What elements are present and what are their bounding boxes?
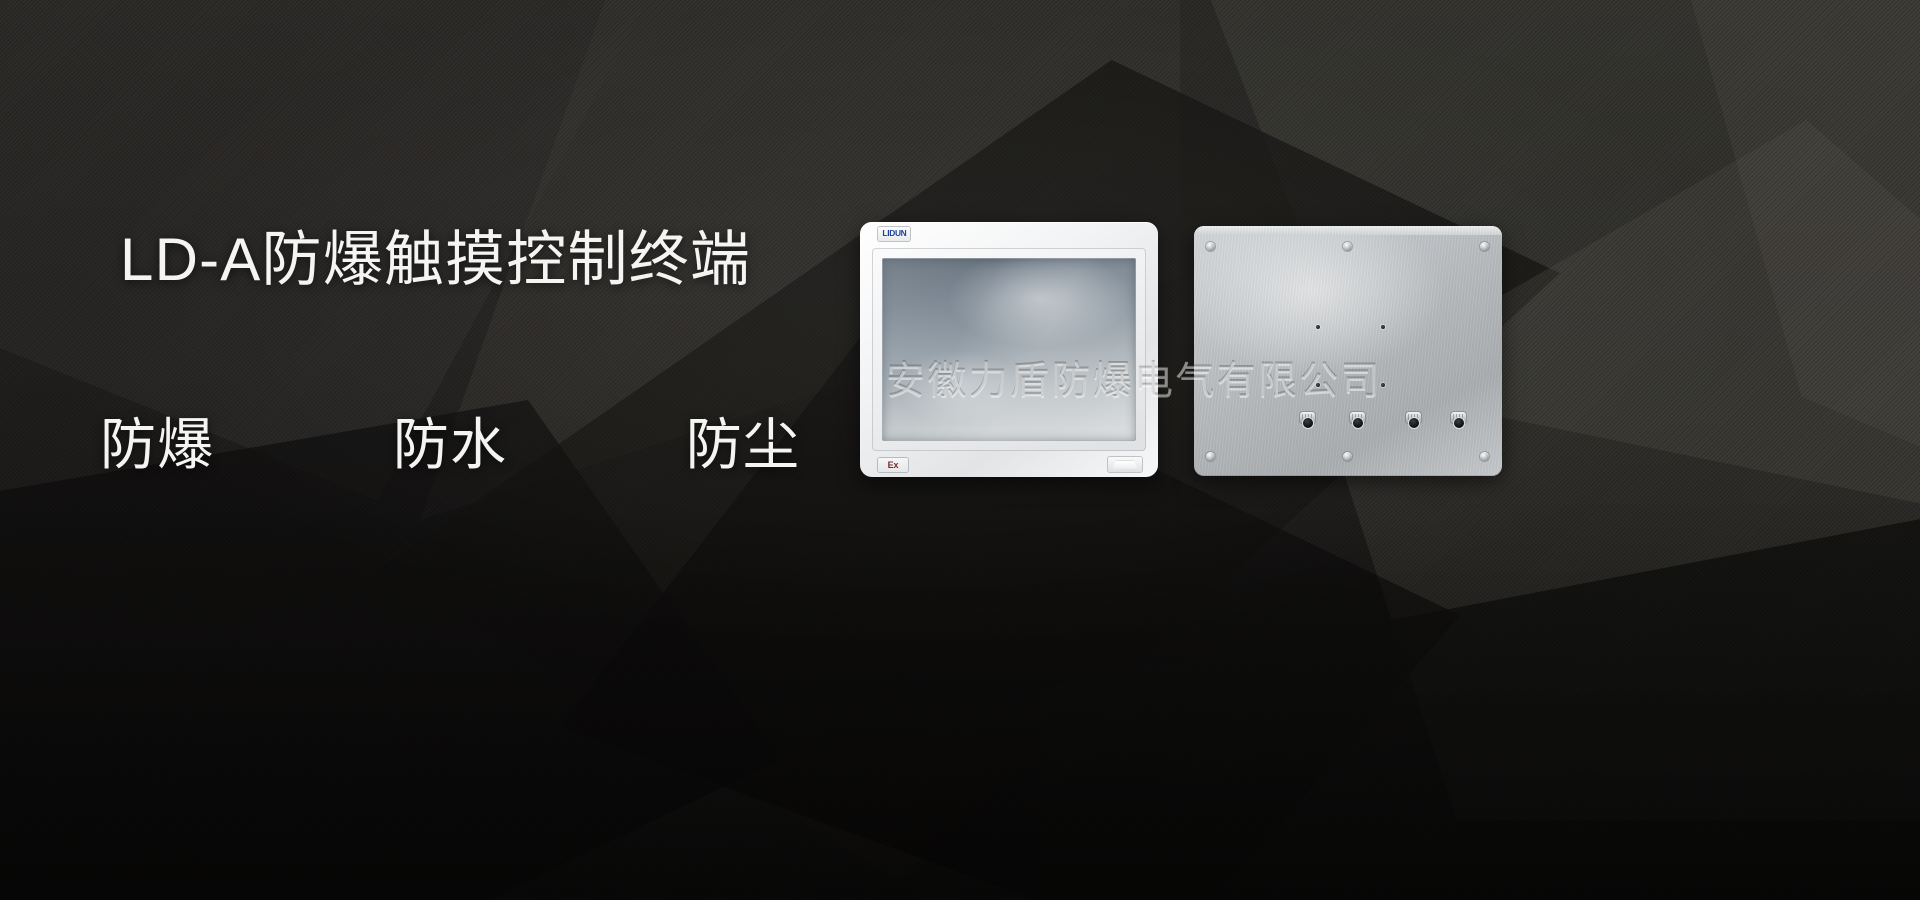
corner-screw-icon bbox=[1343, 452, 1352, 461]
screen-reflection bbox=[882, 258, 1136, 441]
model-label-plate-icon bbox=[1113, 461, 1137, 469]
product-front-panel: LIDUN Ex bbox=[860, 222, 1158, 477]
page-title: LD-A防爆触摸控制终端 bbox=[120, 228, 751, 291]
product-back-panel bbox=[1194, 226, 1502, 476]
brand-logo-icon: LIDUN bbox=[882, 230, 906, 238]
cable-gland-icon bbox=[1450, 412, 1467, 428]
product-image-group: LIDUN Ex bbox=[860, 222, 1560, 492]
corner-screw-icon bbox=[1206, 452, 1215, 461]
ex-certification-badge: Ex bbox=[878, 458, 908, 472]
ex-mark-icon: Ex bbox=[888, 461, 899, 470]
cable-gland-icon bbox=[1405, 412, 1422, 428]
feature-explosion-proof: 防爆 bbox=[100, 400, 214, 481]
cable-gland-icon bbox=[1299, 412, 1316, 428]
corner-screw-icon bbox=[1480, 452, 1489, 461]
back-panel-brushed-texture bbox=[1194, 226, 1502, 476]
cable-gland-icon bbox=[1349, 412, 1366, 428]
mounting-hole-icon bbox=[1316, 325, 1320, 329]
model-label-badge bbox=[1108, 457, 1142, 472]
mounting-hole-icon bbox=[1316, 383, 1320, 387]
corner-screw-icon bbox=[1206, 242, 1215, 251]
mounting-hole-icon bbox=[1381, 383, 1385, 387]
feature-list: 防爆 防水 防尘 bbox=[100, 400, 800, 481]
feature-dustproof: 防尘 bbox=[686, 400, 800, 481]
brand-logo-badge: LIDUN bbox=[878, 227, 910, 241]
mounting-hole-icon bbox=[1381, 325, 1385, 329]
product-banner: LD-A防爆触摸控制终端 防爆 防水 防尘 LIDUN Ex bbox=[0, 0, 1920, 900]
corner-screw-icon bbox=[1480, 242, 1489, 251]
touch-screen bbox=[882, 258, 1136, 441]
feature-waterproof: 防水 bbox=[393, 400, 507, 481]
corner-screw-icon bbox=[1343, 242, 1352, 251]
